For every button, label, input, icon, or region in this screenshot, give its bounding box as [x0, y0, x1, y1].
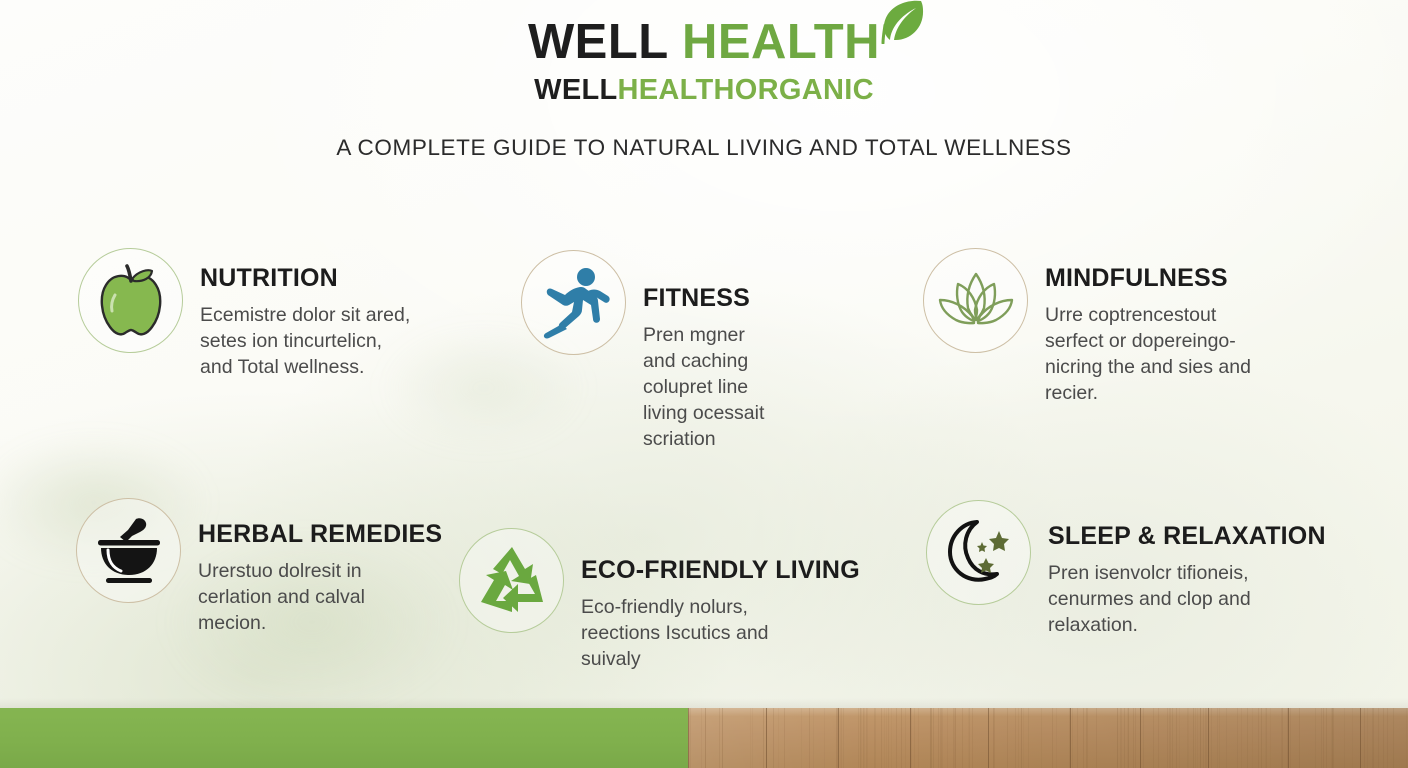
wood-grain-line — [905, 708, 906, 768]
card-eco-friendly-living-text: ECO-FRIENDLY LIVING Eco-friendly nolurs,… — [564, 528, 860, 673]
mortar-pestle-icon — [76, 498, 181, 603]
wood-grain-line — [1135, 708, 1136, 768]
wood-grain-line — [763, 708, 764, 768]
wood-grain-line — [1237, 708, 1238, 768]
wood-grain-line — [1247, 708, 1248, 768]
wood-grain-line — [1018, 708, 1019, 768]
card-herbal-remedies-title: HERBAL REMEDIES — [198, 522, 442, 547]
wood-grain-line — [1041, 708, 1042, 768]
wood-grain-line — [969, 708, 970, 768]
wood-grain-line — [1121, 708, 1122, 768]
wood-grain-line — [813, 708, 814, 768]
wood-grain-line — [784, 708, 785, 768]
card-mindfulness-text: MINDFULNESS Urre coptrencestout serfect … — [1028, 248, 1251, 407]
wood-grain-line — [719, 708, 720, 768]
logo-primary: WELL HEALTH — [528, 18, 880, 67]
wood-plank-seam — [838, 708, 839, 768]
wood-grain-line — [701, 708, 702, 768]
wood-grain-line — [1290, 708, 1291, 768]
wood-grain-line — [881, 708, 882, 768]
wood-grain-line — [1219, 708, 1220, 768]
wood-grain-line — [864, 708, 865, 768]
wood-grain-line — [836, 708, 837, 768]
wood-grain-line — [1270, 708, 1271, 768]
card-herbal-remedies-description: Urerstuo dolresit in cerlation and calva… — [198, 559, 442, 637]
wood-grain-line — [1287, 708, 1288, 768]
wood-grain-line — [1364, 708, 1365, 768]
footer-wood-floor — [688, 708, 1408, 768]
wood-grain-line — [722, 708, 723, 768]
running-person-icon — [521, 250, 626, 355]
wood-grain-line — [1266, 708, 1267, 768]
wood-grain-line — [778, 708, 779, 768]
header: WELL HEALTH WELLHEALTHORGANIC A COMPLETE… — [0, 18, 1408, 161]
wood-grain-line — [1373, 708, 1374, 768]
wood-grain-line — [947, 708, 948, 768]
wood-grain-line — [942, 708, 943, 768]
wood-plank-seam — [988, 708, 989, 768]
wood-grain-line — [1023, 708, 1024, 768]
wood-grain-line — [1195, 708, 1196, 768]
wood-plank-seam — [1140, 708, 1141, 768]
wood-grain-line — [1021, 708, 1022, 768]
wood-grain-line — [1217, 708, 1218, 768]
wood-grain-line — [1176, 708, 1177, 768]
wood-grain-line — [1282, 708, 1283, 768]
wood-grain-line — [931, 708, 932, 768]
card-sleep-relaxation-title: SLEEP & RELAXATION — [1048, 524, 1326, 549]
wood-grain-line — [1203, 708, 1204, 768]
card-nutrition-description: Ecemistre dolor sit ared, setes ion tinc… — [200, 303, 410, 381]
feature-grid: NUTRITION Ecemistre dolor sit ared, sete… — [0, 236, 1408, 686]
wood-grain-line — [1326, 708, 1327, 768]
wood-grain-line — [914, 708, 915, 768]
card-fitness-description: Pren mgner and caching colupret line liv… — [643, 323, 764, 453]
wood-grain-line — [1206, 708, 1207, 768]
wood-grain-line — [993, 708, 994, 768]
wood-grain-line — [750, 708, 751, 768]
wood-grain-line — [841, 708, 842, 768]
wood-grain-line — [884, 708, 885, 768]
card-eco-friendly-living-description: Eco-friendly nolurs, reections Iscutics … — [581, 595, 860, 673]
wood-grain-line — [1072, 708, 1073, 768]
wood-grain-line — [705, 708, 706, 768]
wood-grain-line — [1143, 708, 1144, 768]
wood-grain-line — [1258, 708, 1259, 768]
wood-grain-line — [1170, 708, 1171, 768]
card-herbal-remedies[interactable]: HERBAL REMEDIES Urerstuo dolresit in cer… — [76, 498, 442, 637]
infographic-page: WELL HEALTH WELLHEALTHORGANIC A COMPLETE… — [0, 0, 1408, 768]
wood-grain-line — [837, 708, 838, 768]
wood-grain-line — [1193, 708, 1194, 768]
leaf-icon — [874, 0, 926, 44]
wood-grain-line — [1332, 708, 1333, 768]
card-sleep-relaxation-text: SLEEP & RELAXATION Pren isenvolcr tifion… — [1031, 500, 1326, 639]
wood-grain-line — [875, 708, 876, 768]
wood-grain-line — [1383, 708, 1384, 768]
wood-grain-line — [896, 708, 897, 768]
footer-bar — [0, 708, 1408, 768]
wood-plank-seam — [1288, 708, 1289, 768]
wood-grain-line — [1321, 708, 1322, 768]
wood-grain-line — [861, 708, 862, 768]
wood-grain-line — [1007, 708, 1008, 768]
wood-grain-line — [824, 708, 825, 768]
wood-grain-line — [1172, 708, 1173, 768]
wood-grain-line — [773, 708, 774, 768]
wood-grain-line — [1015, 708, 1016, 768]
wood-grain-line — [891, 708, 892, 768]
wood-grain-line — [940, 708, 941, 768]
wood-grain-line — [766, 708, 767, 768]
footer-green-band — [0, 708, 688, 768]
card-nutrition-title: NUTRITION — [200, 266, 410, 291]
wall-shadow — [0, 698, 1408, 708]
logo-secondary-green: HEALTHORGANIC — [618, 74, 874, 106]
moon-stars-icon — [926, 500, 1031, 605]
wood-grain-line — [994, 708, 995, 768]
wood-grain-line — [1087, 708, 1088, 768]
wood-grain-line — [801, 708, 802, 768]
tagline: A COMPLETE GUIDE TO NATURAL LIVING AND T… — [0, 135, 1408, 161]
wood-plank-seam — [1070, 708, 1071, 768]
card-herbal-remedies-text: HERBAL REMEDIES Urerstuo dolresit in cer… — [181, 498, 442, 637]
wood-grain-line — [1200, 708, 1201, 768]
wood-grain-line — [955, 708, 956, 768]
wood-grain-line — [1393, 708, 1394, 768]
wood-grain-line — [863, 708, 864, 768]
card-fitness-title: FITNESS — [643, 286, 764, 311]
logo-primary-dark: WELL — [528, 15, 682, 69]
wood-grain-line — [1069, 708, 1070, 768]
wood-grain-line — [843, 708, 844, 768]
wood-grain-line — [1387, 708, 1388, 768]
wood-grain-line — [1117, 708, 1118, 768]
wood-grain-line — [1323, 708, 1324, 768]
wood-grain-line — [911, 708, 912, 768]
card-sleep-relaxation[interactable]: SLEEP & RELAXATION Pren isenvolcr tifion… — [926, 500, 1326, 639]
logo-secondary: WELLHEALTHORGANIC — [0, 76, 1408, 105]
wood-grain-line — [1261, 708, 1262, 768]
wood-grain-line — [901, 708, 902, 768]
wood-grain-line — [888, 708, 889, 768]
wood-grain-line — [918, 708, 919, 768]
wood-grain-line — [1406, 708, 1407, 768]
wood-shading — [688, 708, 1408, 768]
wood-grain-line — [752, 708, 753, 768]
lotus-icon — [923, 248, 1028, 353]
recycle-icon — [459, 528, 564, 633]
wood-plank-seam — [1360, 708, 1361, 768]
wood-grain-line — [858, 708, 859, 768]
wood-grain-line — [1241, 708, 1242, 768]
wood-grain-line — [1179, 708, 1180, 768]
wood-grain-line — [1158, 708, 1159, 768]
wood-grain-line — [972, 708, 973, 768]
wood-grain-line — [1133, 708, 1134, 768]
wood-grain-line — [1315, 708, 1316, 768]
wood-grain-line — [690, 708, 691, 768]
card-eco-friendly-living[interactable]: ECO-FRIENDLY LIVING Eco-friendly nolurs,… — [459, 528, 860, 673]
card-sleep-relaxation-description: Pren isenvolcr tifioneis, cenurmes and c… — [1048, 561, 1326, 639]
wood-grain-line — [953, 708, 954, 768]
card-nutrition-text: NUTRITION Ecemistre dolor sit ared, sete… — [183, 248, 410, 381]
logo-secondary-dark: WELL — [534, 74, 617, 106]
wood-grain-line — [910, 708, 911, 768]
wood-grain-line — [1077, 708, 1078, 768]
wood-grain-line — [689, 708, 690, 768]
wood-grain-line — [1083, 708, 1084, 768]
card-mindfulness[interactable]: MINDFULNESS Urre coptrencestout serfect … — [923, 248, 1251, 407]
wood-grain-line — [1028, 708, 1029, 768]
wood-grain-line — [1299, 708, 1300, 768]
apple-icon — [78, 248, 183, 353]
wood-grain-line — [1124, 708, 1125, 768]
wood-grain-line — [1252, 708, 1253, 768]
wood-grain-line — [1205, 708, 1206, 768]
wood-grain-line — [1153, 708, 1154, 768]
wood-grain-line — [1378, 708, 1379, 768]
wood-grain-line — [1052, 708, 1053, 768]
wood-grain-line — [809, 708, 810, 768]
card-mindfulness-description: Urre coptrencestout serfect or dopereing… — [1045, 303, 1251, 407]
wood-grain-line — [1167, 708, 1168, 768]
wood-grain-line — [1188, 708, 1189, 768]
wood-grain-line — [1344, 708, 1345, 768]
wood-grain-line — [1096, 708, 1097, 768]
wood-grain-line — [867, 708, 868, 768]
card-fitness[interactable]: FITNESS Pren mgner and caching colupret … — [521, 250, 764, 453]
wood-grain-line — [962, 708, 963, 768]
wood-grain-line — [1367, 708, 1368, 768]
wood-grain-line — [1056, 708, 1057, 768]
wood-grain-line — [886, 708, 887, 768]
card-eco-friendly-living-title: ECO-FRIENDLY LIVING — [581, 558, 860, 583]
card-mindfulness-title: MINDFULNESS — [1045, 266, 1251, 291]
wood-grain-line — [1128, 708, 1129, 768]
wood-grain-line — [1197, 708, 1198, 768]
wood-grain-line — [1211, 708, 1212, 768]
wood-grain-line — [1352, 708, 1353, 768]
wood-grain-line — [1226, 708, 1227, 768]
card-fitness-text: FITNESS Pren mgner and caching colupret … — [626, 250, 764, 453]
wood-plank-seam — [1208, 708, 1209, 768]
wood-grain-line — [1333, 708, 1334, 768]
wood-grain-line — [840, 708, 841, 768]
wood-grain-line — [933, 708, 934, 768]
card-nutrition[interactable]: NUTRITION Ecemistre dolor sit ared, sete… — [78, 248, 410, 381]
logo-primary-green: HEALTH — [682, 15, 880, 69]
wood-grain-line — [938, 708, 939, 768]
